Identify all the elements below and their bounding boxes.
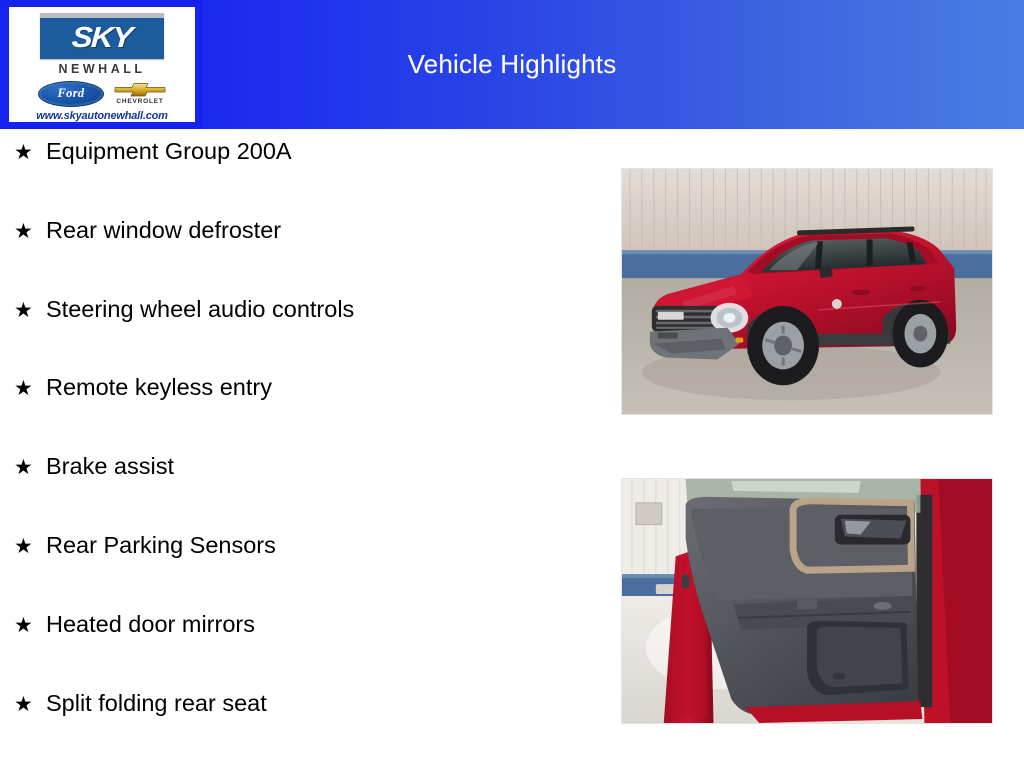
- highlight-label: Steering wheel audio controls: [46, 298, 354, 322]
- vehicle-highlights-list: ★ Equipment Group 200A ★ Rear window def…: [0, 140, 600, 760]
- list-item: ★ Equipment Group 200A: [0, 140, 600, 219]
- list-item: ★ Heated door mirrors: [0, 613, 600, 692]
- dealer-logo-card: SKY NEWHALL Ford: [9, 7, 195, 122]
- star-bullet-icon: ★: [14, 142, 46, 163]
- star-bullet-icon: ★: [14, 300, 46, 321]
- vehicle-exterior-photo[interactable]: [621, 168, 993, 415]
- dealer-logo[interactable]: SKY NEWHALL Ford: [0, 0, 203, 129]
- star-bullet-icon: ★: [14, 221, 46, 242]
- sky-brand-text: SKY: [71, 24, 133, 53]
- sky-brand-badge: SKY: [40, 13, 164, 59]
- dealer-location-text: NEWHALL: [59, 63, 146, 76]
- list-item: ★ Steering wheel audio controls: [0, 298, 600, 377]
- highlight-label: Split folding rear seat: [46, 692, 267, 716]
- star-bullet-icon: ★: [14, 694, 46, 715]
- vehicle-interior-door-photo[interactable]: [621, 478, 993, 724]
- franchise-badges-row: Ford: [9, 81, 195, 107]
- highlight-label: Equipment Group 200A: [46, 140, 292, 164]
- highlight-label: Rear Parking Sensors: [46, 534, 276, 558]
- list-item: ★ Brake assist: [0, 455, 600, 534]
- highlight-label: Brake assist: [46, 455, 174, 479]
- list-item: ★ Split folding rear seat: [0, 692, 600, 770]
- chevrolet-wordmark: CHEVROLET: [116, 98, 163, 105]
- list-item: ★ Rear window defroster: [0, 219, 600, 298]
- highlight-label: Heated door mirrors: [46, 613, 255, 637]
- chevrolet-bowtie-icon: [114, 82, 166, 97]
- star-bullet-icon: ★: [14, 615, 46, 636]
- ford-oval-icon: Ford: [38, 81, 104, 107]
- dealer-website-text: www.skyautonewhall.com: [36, 110, 168, 122]
- chevrolet-badge: CHEVROLET: [114, 82, 166, 105]
- list-item: ★ Rear Parking Sensors: [0, 534, 600, 613]
- ford-wordmark: Ford: [58, 86, 85, 101]
- star-bullet-icon: ★: [14, 378, 46, 399]
- star-bullet-icon: ★: [14, 457, 46, 478]
- list-item: ★ Remote keyless entry: [0, 376, 600, 455]
- highlight-label: Remote keyless entry: [46, 376, 272, 400]
- highlight-label: Rear window defroster: [46, 219, 281, 243]
- star-bullet-icon: ★: [14, 536, 46, 557]
